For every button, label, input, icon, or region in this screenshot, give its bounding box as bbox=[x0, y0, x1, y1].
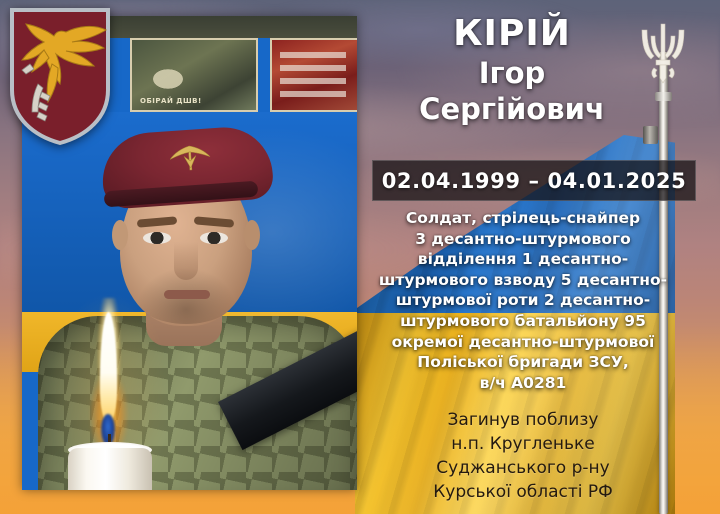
first-name: Ігор bbox=[362, 56, 662, 91]
life-dates: 02.04.1999 – 04.01.2025 bbox=[382, 169, 687, 193]
description-line-7: Поліської бригади ЗСУ, bbox=[364, 352, 682, 373]
paratrooper-wings-icon bbox=[167, 141, 213, 174]
rank-and-unit-description: Солдат, стрілець-снайпер3 десантно-штурм… bbox=[364, 208, 682, 393]
place-of-death: Загинув поблизун.п. КругленькеСуджансько… bbox=[364, 408, 682, 505]
soldier-eye-left bbox=[143, 232, 171, 244]
soldier-mouth bbox=[164, 290, 210, 299]
description-line-4: штурмової роти 2 десантно- bbox=[364, 290, 682, 311]
place-line-0: Загинув поблизу bbox=[364, 408, 682, 432]
life-dates-band: 02.04.1999 – 04.01.2025 bbox=[372, 160, 696, 201]
memorial-candle-icon bbox=[68, 448, 152, 490]
place-line-2: Суджанського р-ну bbox=[364, 456, 682, 480]
description-line-6: окремої десантно-штурмової bbox=[364, 332, 682, 353]
soldier-ear-left bbox=[112, 220, 128, 250]
place-line-3: Курської області РФ bbox=[364, 480, 682, 504]
place-line-1: н.п. Кругленьке bbox=[364, 432, 682, 456]
soldier-eye-right bbox=[200, 232, 228, 244]
patronymic: Сергійович bbox=[362, 92, 662, 127]
poster-emblem-icon bbox=[142, 62, 194, 96]
description-line-3: штурмового взводу 5 десантно- bbox=[364, 270, 682, 291]
description-line-5: штурмового батальйону 95 bbox=[364, 311, 682, 332]
wall-poster-recruitment: ОБІРАЙ ДШВ! bbox=[130, 38, 258, 112]
description-line-1: 3 десантно-штурмового bbox=[364, 229, 682, 250]
soldier-ear-right bbox=[244, 220, 260, 250]
surname: КІРІЙ bbox=[362, 14, 662, 54]
name-block: КІРІЙ Ігор Сергійович bbox=[362, 14, 662, 127]
soldier-nose bbox=[174, 242, 198, 280]
memorial-poster: ОБІРАЙ ДШВ! bbox=[0, 0, 720, 514]
flagpole-clip bbox=[643, 126, 658, 144]
description-line-8: в/ч А0281 bbox=[364, 373, 682, 394]
description-line-0: Солдат, стрілець-снайпер bbox=[364, 208, 682, 229]
brigade-patch-falcon-icon bbox=[8, 6, 112, 146]
poster-label: ОБІРАЙ ДШВ! bbox=[140, 97, 202, 105]
description-line-2: відділення 1 десантно- bbox=[364, 249, 682, 270]
wall-poster-red bbox=[270, 38, 357, 112]
poster-text-lines bbox=[280, 52, 346, 100]
